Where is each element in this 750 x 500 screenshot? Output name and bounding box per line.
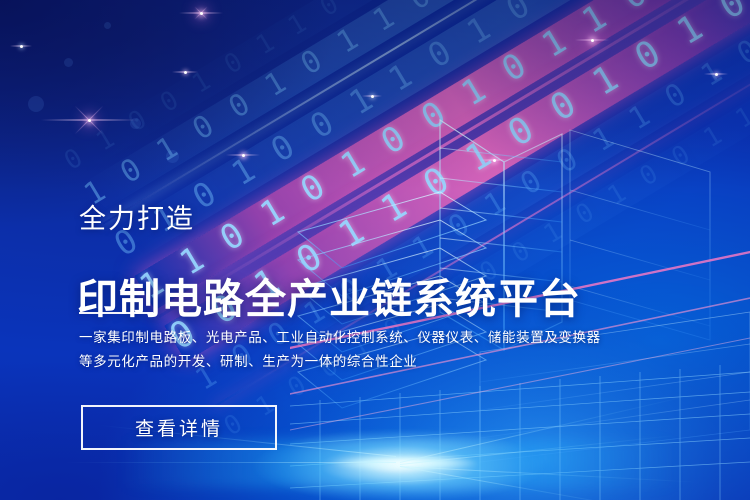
description-line: 等多元化产品的开发、研制、生产为一体的综合性企业 [79,350,549,374]
description-line: 一家集印制电路板、光电产品、工业自动化控制系统、仪器仪表、储能装置及变换器 [79,326,549,350]
hero-banner: 0 1 0 0 1 0 1 1 0 0 1 0 1 0 0 1 1 0 1 0 … [0,0,750,500]
kicker-text: 全力打造 [79,197,195,236]
view-details-label: 查看详情 [135,414,223,441]
view-details-button[interactable]: 查看详情 [81,405,277,450]
hero-content: 全力打造 印制电路全产业链系统平台 一家集印制电路板、光电产品、工业自动化控制系… [0,0,750,500]
title-divider [79,312,153,314]
description-block: 一家集印制电路板、光电产品、工业自动化控制系统、仪器仪表、储能装置及变换器 等多… [79,326,549,374]
page-title: 印制电路全产业链系统平台 [77,265,581,325]
